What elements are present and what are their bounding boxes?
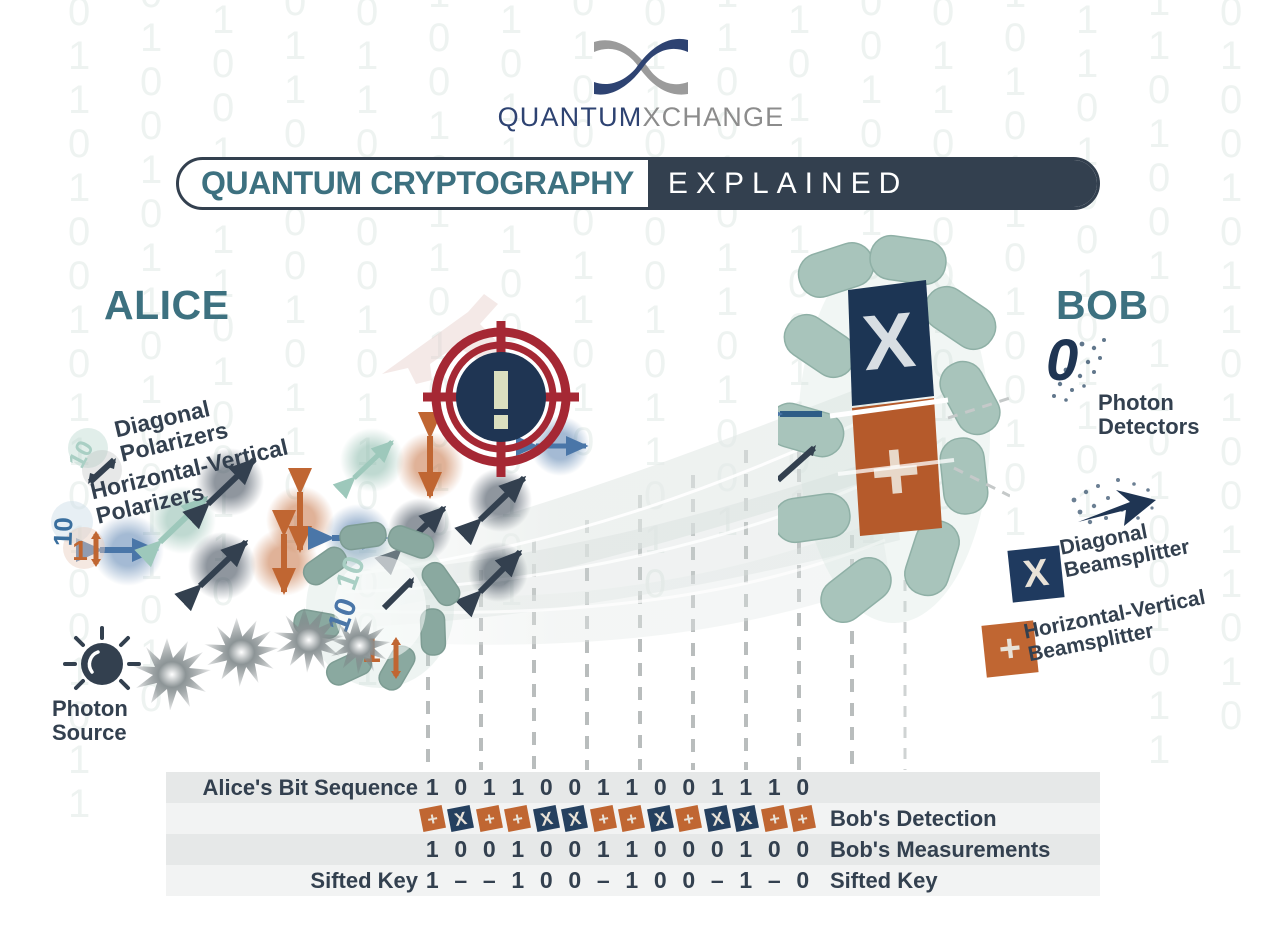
sifted-key-cells: 1––100–100–1–0 [418,865,818,896]
table-cell: 1 [618,865,647,896]
table-cell: 0 [675,834,704,865]
table-cell: 0 [789,865,818,896]
table-cell: X [732,803,761,834]
table-cell: 1 [589,772,618,803]
table-cell: + [475,803,504,834]
bob-beamsplitter-apparatus: X + [778,228,1010,638]
table-cell: + [675,803,704,834]
eavesdropper-target-icon[interactable] [421,317,581,487]
table-cell: 1 [732,772,761,803]
diagonal-beamsplitter-icon: X [1007,545,1064,602]
xchange-mark-icon [586,26,696,96]
table-cell: 1 [504,865,533,896]
table-cell: 0 [646,834,675,865]
table-cell: – [589,865,618,896]
table-cell: 0 [447,772,476,803]
diagonal-basis-tile: X [704,805,731,832]
svg-text:1: 1 [72,535,88,566]
hv-basis-tile: + [675,805,702,832]
table-cell: – [447,865,476,896]
table-cell: 0 [561,834,590,865]
table-cell: – [760,865,789,896]
hv-beamsplitter-symbol: + [997,629,1023,669]
table-cell: 1 [760,772,789,803]
table-cell: 0 [561,865,590,896]
brand-logo: QUANTUMXCHANGE [0,26,1282,133]
table-cell: 1 [618,834,647,865]
title-banner: QUANTUM CRYPTOGRAPHY EXPLAINED [176,157,1100,210]
hv-basis-tile: + [476,805,503,832]
table-cell: X [561,803,590,834]
table-cell: X [646,803,675,834]
photon-burst-group [120,590,420,710]
table-cell: 0 [789,772,818,803]
alice-bit-cells: 10110011001110 [418,772,818,803]
table-cell: 1 [618,772,647,803]
table-cell: 0 [475,834,504,865]
photon-source-icon [62,626,142,696]
detector-zero-glyph: 0 [1046,330,1078,393]
table-row-bob-measurements: 10010011000100 Bob's Measurements [166,834,1100,865]
table-cell: 0 [447,834,476,865]
table-row-alice-bits: Alice's Bit Sequence 10110011001110 [166,772,1100,803]
table-row-bob-detection: +X++XX++X+XX++ Bob's Detection [166,803,1100,834]
table-cell: – [475,865,504,896]
table-cell: 0 [532,865,561,896]
table-cell: 0 [532,834,561,865]
hv-basis-tile: + [504,805,531,832]
table-cell: 1 [732,865,761,896]
photon-detectors-label: Photon Detectors [1098,391,1199,439]
table-cell: 1 [418,865,447,896]
title-accent: EXPLAINED [648,160,1097,207]
table-cell: 0 [532,772,561,803]
bit-sequence-table: Alice's Bit Sequence 10110011001110 +X++… [166,772,1100,896]
photon-source-label: Photon Source [52,697,128,745]
brand-wordmark: QUANTUMXCHANGE [0,102,1282,133]
bob-label: BOB [1056,282,1149,329]
table-cell: 1 [732,834,761,865]
title-main: QUANTUM CRYPTOGRAPHY [179,160,648,207]
hv-basis-tile: + [419,805,446,832]
table-cell: 0 [675,865,704,896]
bob-measurement-cells: 10010011000100 [418,834,818,865]
brand-word-xchange: XCHANGE [642,102,784,132]
table-cell: 1 [475,772,504,803]
infographic-canvas: 0 1 1 0 1 0 0 1 0 1 1 0 1 0 0 1 0 1 10 1… [0,0,1282,931]
table-cell: + [589,803,618,834]
brand-word-quantum: QUANTUM [498,102,643,132]
row-label-sifted-key-right: Sifted Key [818,865,938,896]
table-cell: 0 [703,834,732,865]
row-label-sifted-key-left: Sifted Key [166,865,418,896]
table-cell: 1 [504,834,533,865]
hv-basis-tile: + [590,805,617,832]
diagonal-basis-tile: X [647,805,674,832]
table-cell: 0 [561,772,590,803]
table-cell: 0 [646,772,675,803]
table-cell: + [418,803,447,834]
hv-basis-tile: + [789,805,816,832]
table-cell: X [532,803,561,834]
table-cell: 1 [418,772,447,803]
alice-label: ALICE [104,282,230,329]
table-cell: 0 [675,772,704,803]
table-cell: 0 [646,865,675,896]
table-cell: 1 [418,834,447,865]
diagonal-basis-tile: X [447,805,474,832]
table-row-sifted-key: Sifted Key 1––100–100–1–0 Sifted Key [166,865,1100,896]
diagonal-basis-tile: X [732,805,759,832]
hv-basis-tile: + [618,805,645,832]
hv-basis-tile: + [761,805,788,832]
svg-text:X: X [859,295,919,387]
table-cell: – [703,865,732,896]
table-cell: X [447,803,476,834]
row-label-bob-measurements: Bob's Measurements [818,834,1050,865]
diagonal-beamsplitter-symbol: X [1021,554,1050,594]
table-cell: 1 [703,772,732,803]
table-cell: 1 [504,772,533,803]
row-label-alice-bits: Alice's Bit Sequence [166,772,418,803]
table-cell: + [618,803,647,834]
table-cell: + [504,803,533,834]
row-label-bob-detection: Bob's Detection [818,803,997,834]
table-cell: 1 [589,834,618,865]
table-cell: + [789,803,818,834]
diagonal-basis-tile: X [561,805,588,832]
bob-detection-cells: +X++XX++X+XX++ [418,803,818,834]
table-cell: 0 [789,834,818,865]
table-cell: 0 [760,834,789,865]
table-cell: X [703,803,732,834]
table-cell: + [760,803,789,834]
diagonal-basis-tile: X [533,805,560,832]
